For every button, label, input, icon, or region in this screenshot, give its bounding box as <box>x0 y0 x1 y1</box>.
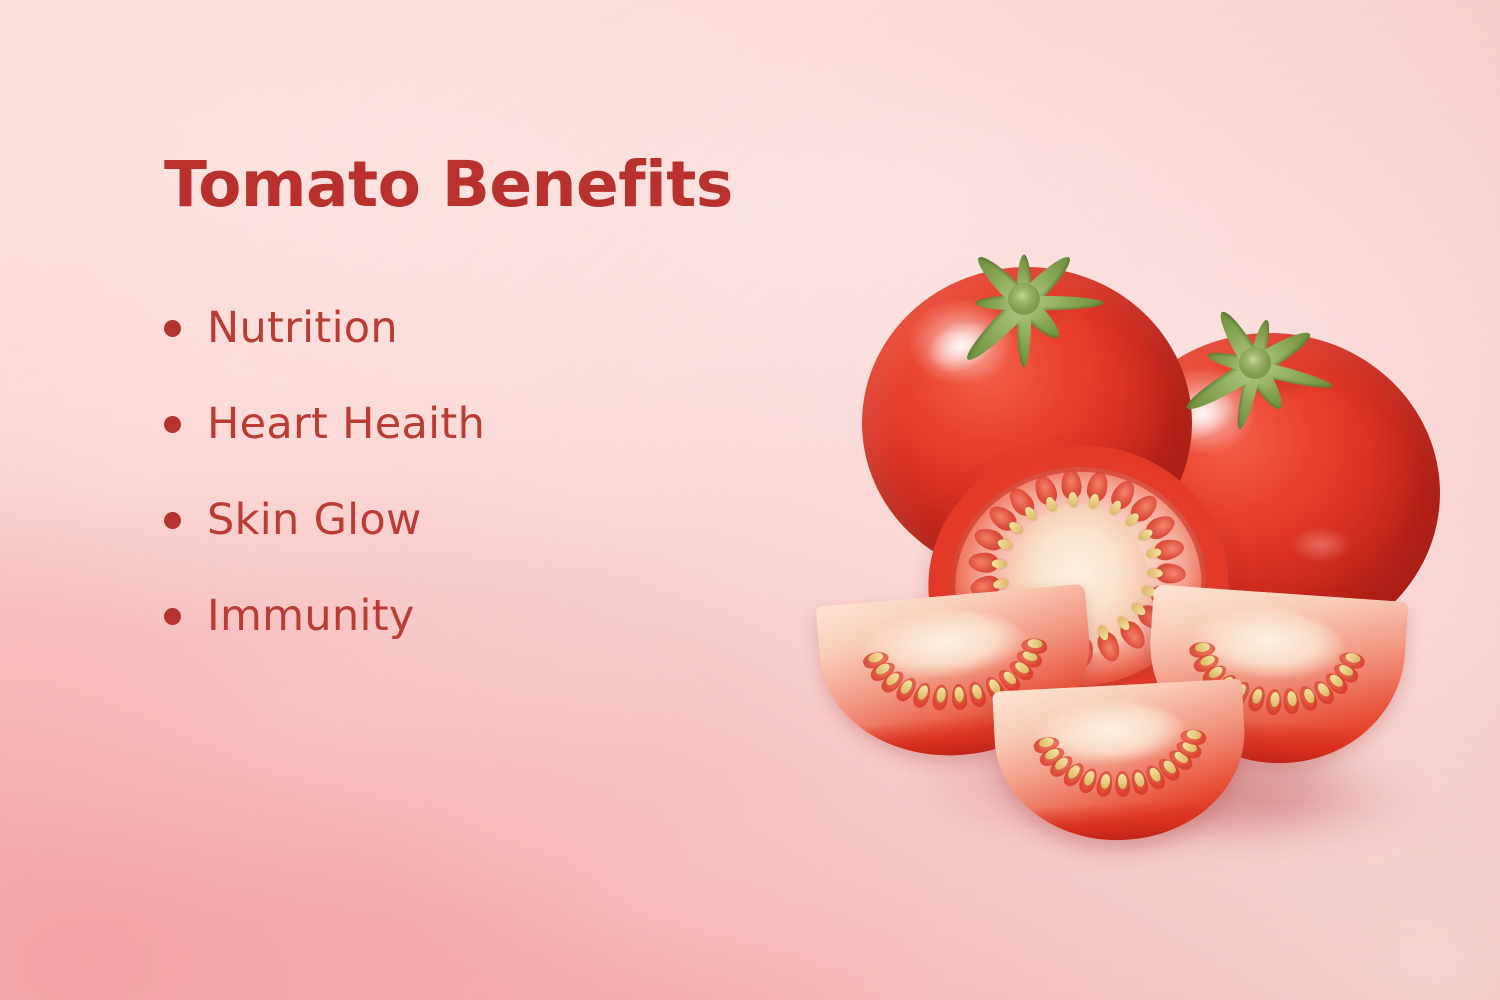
benefit-label-nutrition: Nutrition <box>207 303 398 353</box>
bullet-dot-icon <box>164 608 181 625</box>
tomato-wedge-front-icon <box>992 679 1250 847</box>
calyx-hub <box>1008 283 1040 315</box>
bullet-dot-icon <box>164 512 181 529</box>
bullet-dot-icon <box>164 320 181 337</box>
bullet-dot-icon <box>164 416 181 433</box>
benefit-label-immunity: Immunity <box>207 591 415 641</box>
list-item: Heart Heaith <box>164 376 784 472</box>
tomato-highlight <box>1277 519 1365 570</box>
text-block: Tomato Benefits Nutrition Heart Heaith S… <box>164 152 784 664</box>
benefit-label-skin-glow: Skin Glow <box>207 495 422 545</box>
benefits-list: Nutrition Heart Heaith Skin Glow Immunit… <box>164 280 784 664</box>
list-item: Nutrition <box>164 280 784 376</box>
list-item: Skin Glow <box>164 472 784 568</box>
benefit-label-heart-health: Heart Heaith <box>207 399 485 449</box>
slide-canvas: Tomato Benefits Nutrition Heart Heaith S… <box>0 0 1500 1000</box>
tomato-seed <box>1147 568 1163 578</box>
calyx-hub <box>1239 347 1271 379</box>
list-item: Immunity <box>164 568 784 664</box>
page-title: Tomato Benefits <box>164 152 784 218</box>
tomato-photograph <box>800 215 1460 855</box>
